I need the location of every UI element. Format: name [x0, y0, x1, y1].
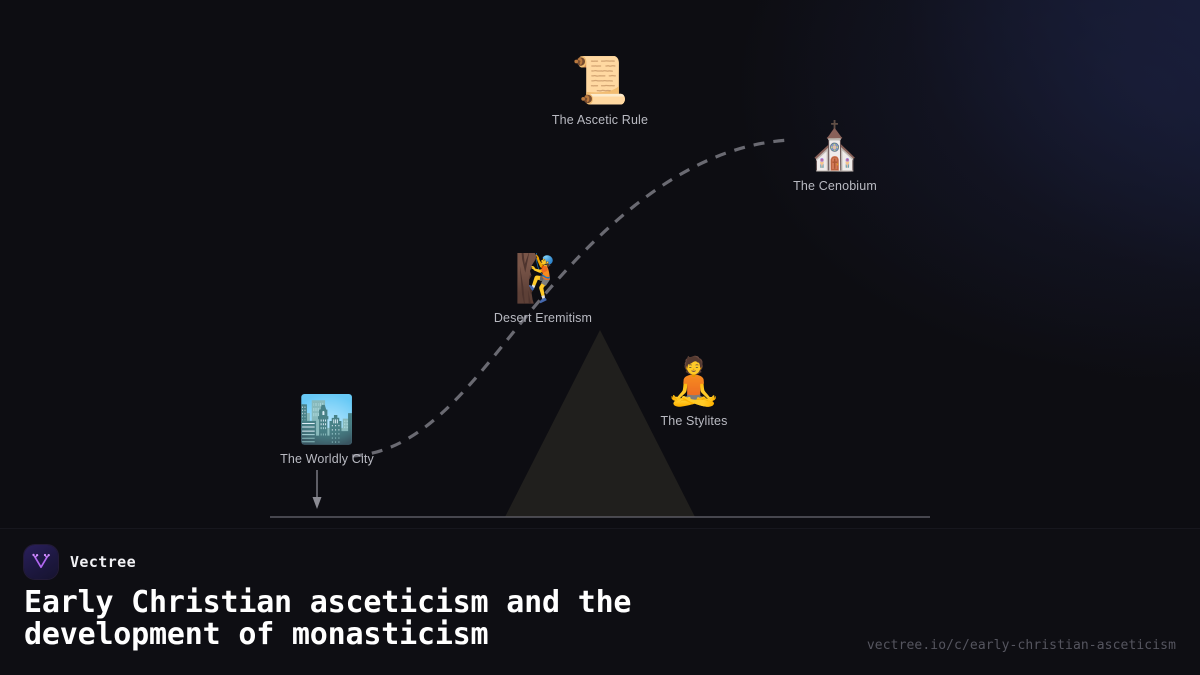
church-icon: ⛪ — [806, 119, 863, 173]
node-ascetic-rule[interactable]: 📜 The Ascetic Rule — [505, 53, 695, 127]
node-label: Desert Eremitism — [494, 311, 592, 325]
scroll-icon: 📜 — [571, 53, 628, 107]
person-lotus-icon: 🧘 — [665, 354, 722, 408]
brand-row[interactable]: Vectree — [24, 545, 136, 579]
footer-bar: Vectree Early Christian asceticism and t… — [0, 528, 1200, 675]
node-desert-eremitism[interactable]: 🧗 Desert Eremitism — [448, 251, 638, 325]
down-arrow-icon — [313, 470, 322, 509]
node-label: The Ascetic Rule — [552, 113, 648, 127]
cityscape-icon: 🏙️ — [298, 392, 355, 446]
vectree-logo-icon — [24, 545, 58, 579]
brand-name: Vectree — [70, 553, 136, 571]
node-label: The Stylites — [660, 414, 727, 428]
node-label: The Cenobium — [793, 179, 877, 193]
diagram-scene: 🏙️ The Worldly City 🧗 Desert Eremitism 📜… — [0, 0, 1200, 528]
page-url: vectree.io/c/early-christian-asceticism — [867, 638, 1176, 653]
page-title: Early Christian asceticism and the devel… — [24, 587, 824, 651]
node-worldly-city[interactable]: 🏙️ The Worldly City — [232, 392, 422, 466]
node-cenobium[interactable]: ⛪ The Cenobium — [740, 119, 930, 193]
diagram-canvas: 🏙️ The Worldly City 🧗 Desert Eremitism 📜… — [0, 0, 1200, 528]
person-climbing-icon: 🧗 — [514, 251, 571, 305]
node-stylites[interactable]: 🧘 The Stylites — [599, 354, 789, 428]
node-label: The Worldly City — [280, 452, 374, 466]
